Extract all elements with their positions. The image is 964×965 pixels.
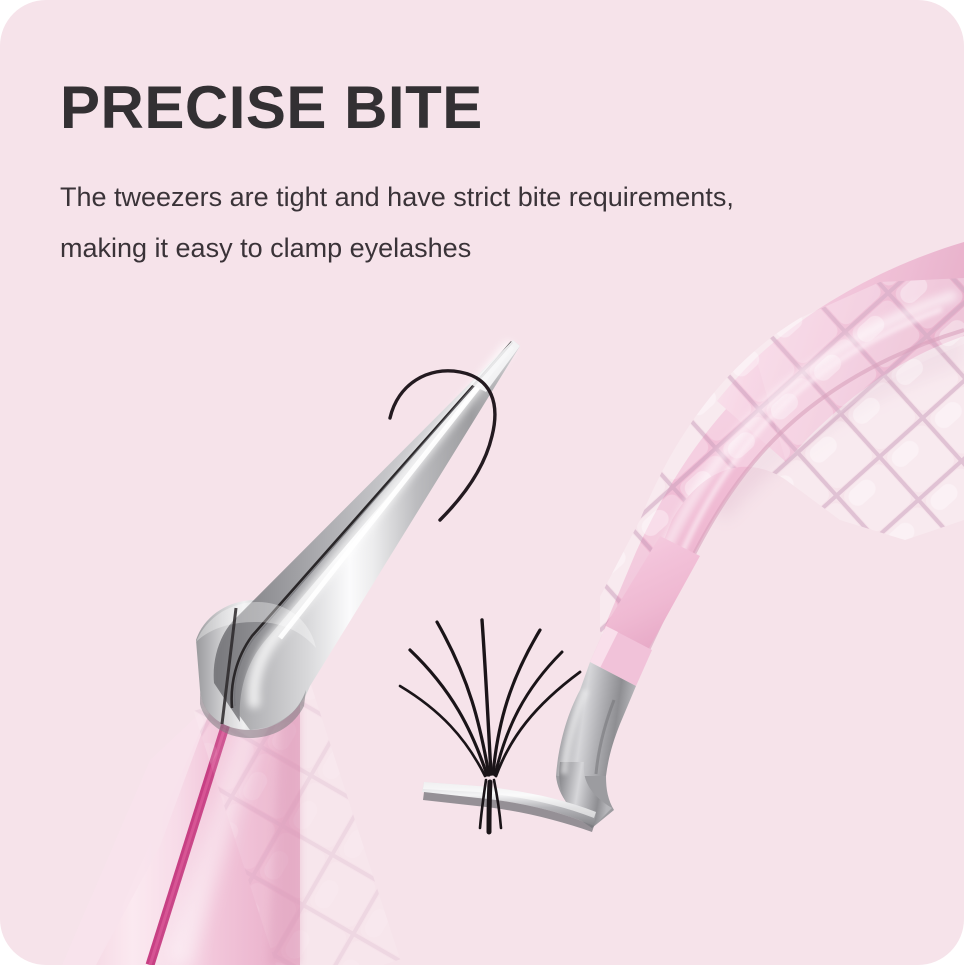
page-subtitle: The tweezers are tight and have strict b… — [60, 172, 820, 274]
product-feature-card: PRECISE BITE The tweezers are tight and … — [0, 0, 964, 965]
subtitle-line-1: The tweezers are tight and have strict b… — [60, 172, 820, 223]
subtitle-line-2: making it easy to clamp eyelashes — [60, 223, 820, 274]
product-illustration — [0, 0, 964, 965]
page-title: PRECISE BITE — [60, 78, 483, 138]
